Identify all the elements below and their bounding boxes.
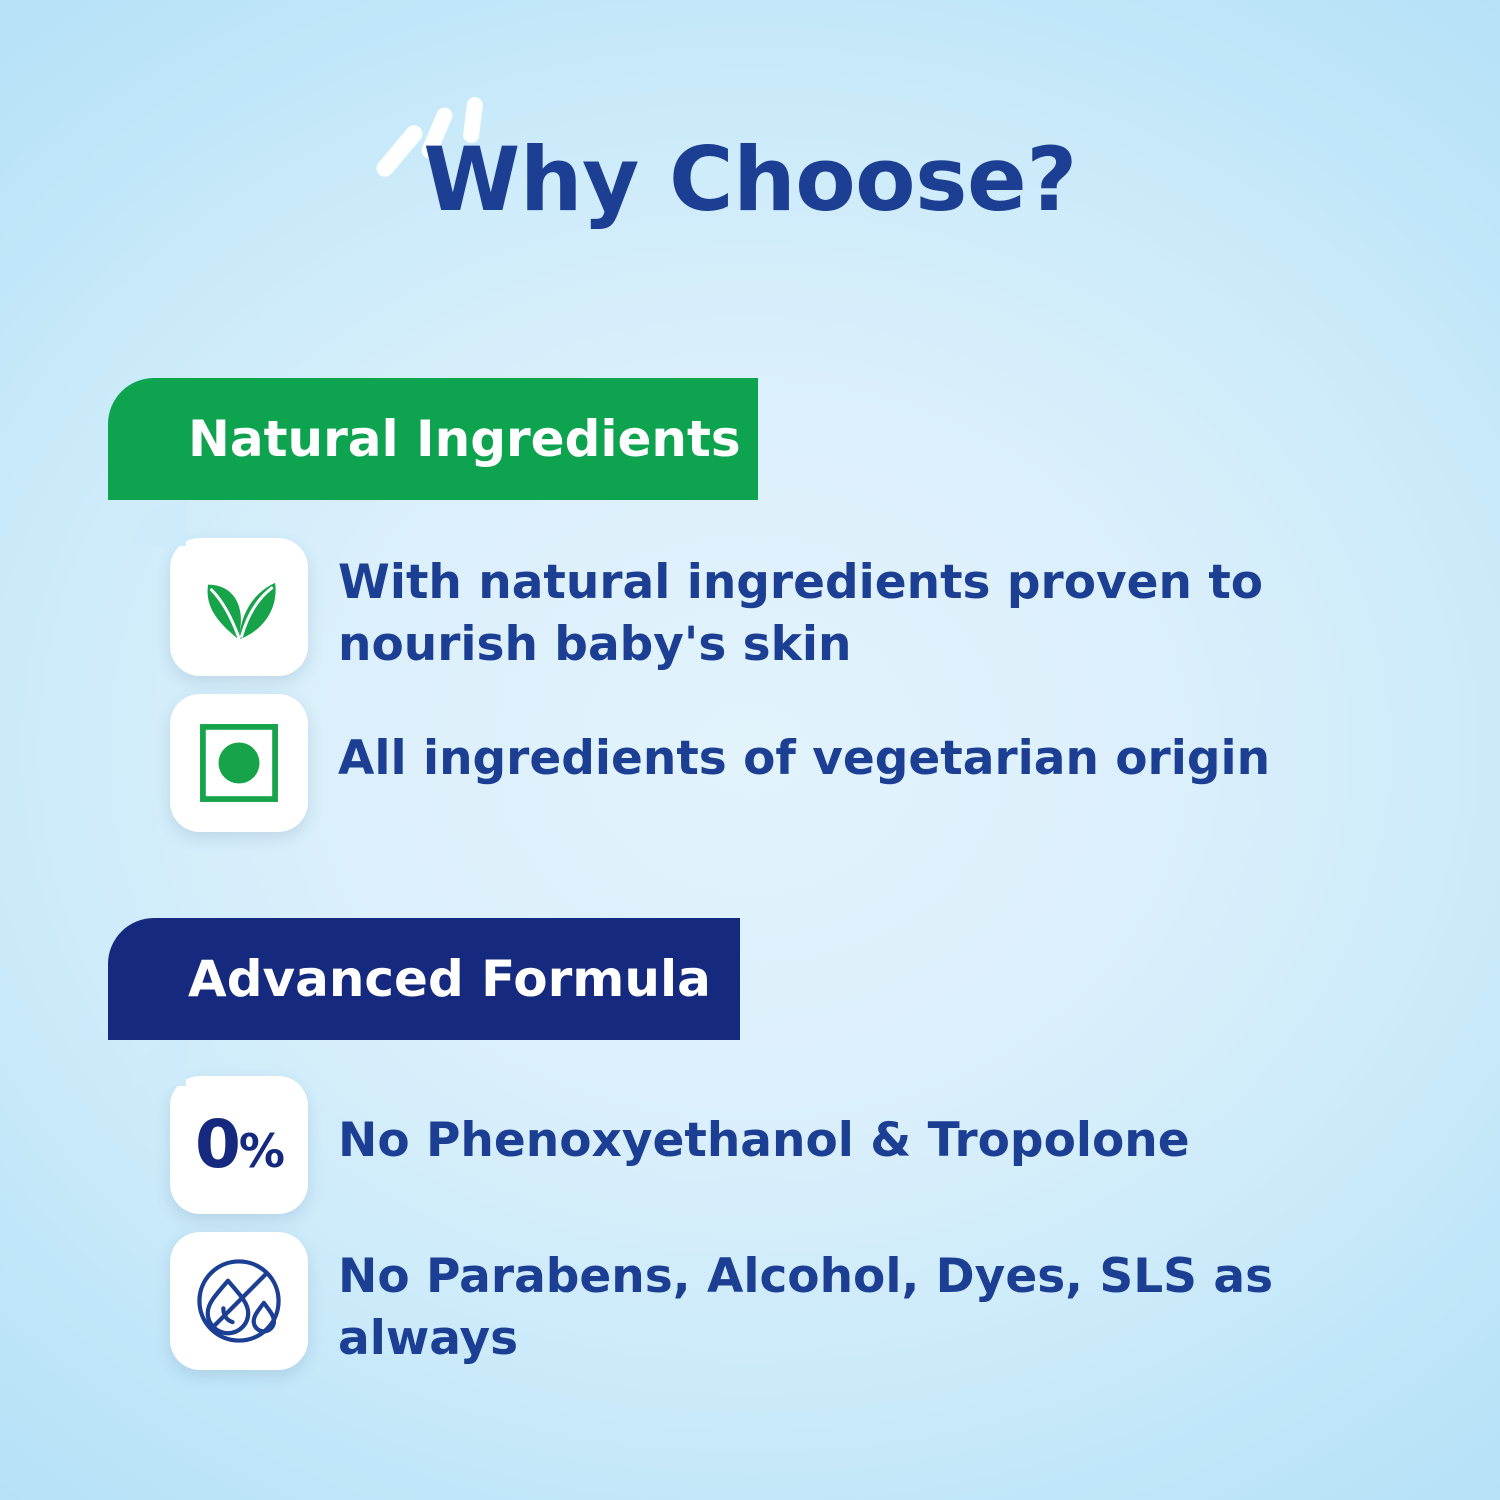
feature-row: 0% No Phenoxyethanol & Tropolone: [0, 1076, 1500, 1214]
banner-wrap-advanced: Advanced Formula: [0, 918, 1500, 1093]
leaves-icon: [196, 564, 282, 650]
feature-text: All ingredients of vegetarian origin: [338, 694, 1270, 790]
feature-row: All ingredients of vegetarian origin: [0, 694, 1500, 832]
section-advanced-formula: Advanced Formula 0% No Phenoxyethanol & …: [0, 918, 1500, 1093]
icon-tile-zero-percent: 0%: [170, 1076, 308, 1214]
feature-text: No Parabens, Alcohol, Dyes, SLS as alway…: [338, 1232, 1298, 1370]
icon-tile-vegetarian: [170, 694, 308, 832]
zero-digit: 0: [195, 1106, 239, 1183]
feature-row: With natural ingredients proven to nouri…: [0, 538, 1500, 676]
feature-text: With natural ingredients proven to nouri…: [338, 538, 1298, 676]
section-natural-ingredients: Natural Ingredients With natural ingredi…: [0, 378, 1500, 553]
feature-list-advanced: 0% No Phenoxyethanol & Tropolone No Para…: [0, 1076, 1500, 1388]
icon-tile-leaves: [170, 538, 308, 676]
icon-tile-no-water-drop: [170, 1232, 308, 1370]
feature-row: No Parabens, Alcohol, Dyes, SLS as alway…: [0, 1232, 1500, 1370]
banner-tail-natural: [108, 498, 186, 546]
banner-label-advanced: Advanced Formula: [108, 950, 711, 1008]
zero-percent-icon: 0%: [195, 1112, 283, 1178]
feature-text: No Phenoxyethanol & Tropolone: [338, 1076, 1190, 1172]
percent-sign: %: [239, 1124, 283, 1178]
feature-list-natural: With natural ingredients proven to nouri…: [0, 538, 1500, 850]
banner-natural-ingredients: Natural Ingredients: [108, 378, 758, 500]
banner-advanced-formula: Advanced Formula: [108, 918, 740, 1040]
banner-label-natural: Natural Ingredients: [108, 410, 741, 468]
banner-tail-advanced: [108, 1038, 186, 1086]
page-title: Why Choose?: [0, 128, 1500, 231]
no-water-drop-icon: [193, 1255, 285, 1347]
banner-wrap-natural: Natural Ingredients: [0, 378, 1500, 553]
vegetarian-mark-icon: [198, 722, 280, 804]
